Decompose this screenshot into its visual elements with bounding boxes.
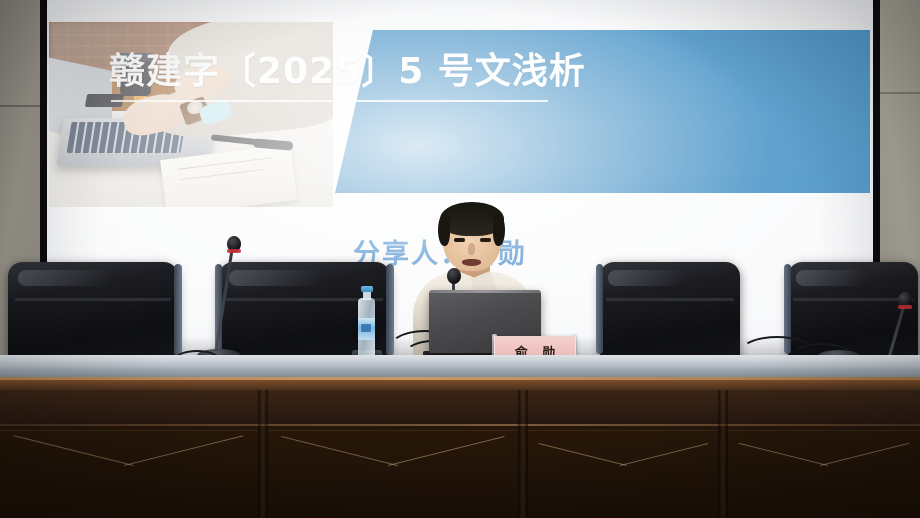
presenter-hair-side-left — [438, 214, 450, 246]
chair-frame-rail — [596, 264, 603, 354]
chair-highlight — [796, 270, 866, 286]
presenter-hair-side-right — [493, 214, 505, 246]
table-top-sheen — [0, 355, 920, 369]
chair-highlight — [608, 270, 684, 286]
chair-right — [600, 262, 740, 362]
presenter-eye-right — [480, 238, 491, 242]
presenter-nose — [468, 243, 475, 255]
conference-room-screenshot: 赣建字〔2025〕5 号文浅析 分享人：俞勋 — [0, 0, 920, 518]
presenter-mouth — [462, 259, 481, 266]
water-bottle-cap — [361, 286, 373, 292]
chair-highlight — [18, 270, 110, 286]
water-bottle-label-mark — [361, 324, 371, 332]
presenter-eyebrow-left — [452, 231, 466, 234]
panel-chevron-inlay — [10, 465, 247, 511]
table-panel-divider — [518, 390, 528, 518]
wall-seam-right — [876, 92, 920, 94]
presenter-eyebrow-right — [478, 231, 492, 234]
table-panel — [728, 430, 920, 518]
slide-title-underline — [111, 100, 548, 102]
microphone-red-ring — [898, 305, 912, 309]
table-panel — [268, 430, 518, 518]
panel-chevron-inlay — [278, 465, 508, 511]
table-edge-highlight — [0, 377, 920, 380]
panel-chevron-inlay — [536, 465, 711, 511]
chair-crease — [606, 298, 735, 301]
table-panel — [0, 430, 258, 518]
chair-far-left — [8, 262, 178, 362]
slide-title: 赣建字〔2025〕5 号文浅析 — [109, 42, 586, 94]
table-panel-divider — [258, 390, 268, 518]
chair-frame-rail — [174, 264, 182, 356]
table-front-band — [0, 390, 920, 426]
microphone-head — [447, 268, 461, 284]
table-panel — [528, 430, 718, 518]
chair-crease — [793, 298, 913, 301]
chair-crease — [15, 298, 171, 301]
table-panel-divider — [718, 390, 728, 518]
table-front-moulding — [0, 424, 920, 426]
presenter-eye-left — [454, 238, 465, 242]
chair-highlight — [229, 270, 321, 286]
panel-chevron-inlay — [736, 465, 913, 511]
microphone-red-ring — [227, 249, 241, 253]
laptop-lid-edge — [429, 290, 541, 293]
